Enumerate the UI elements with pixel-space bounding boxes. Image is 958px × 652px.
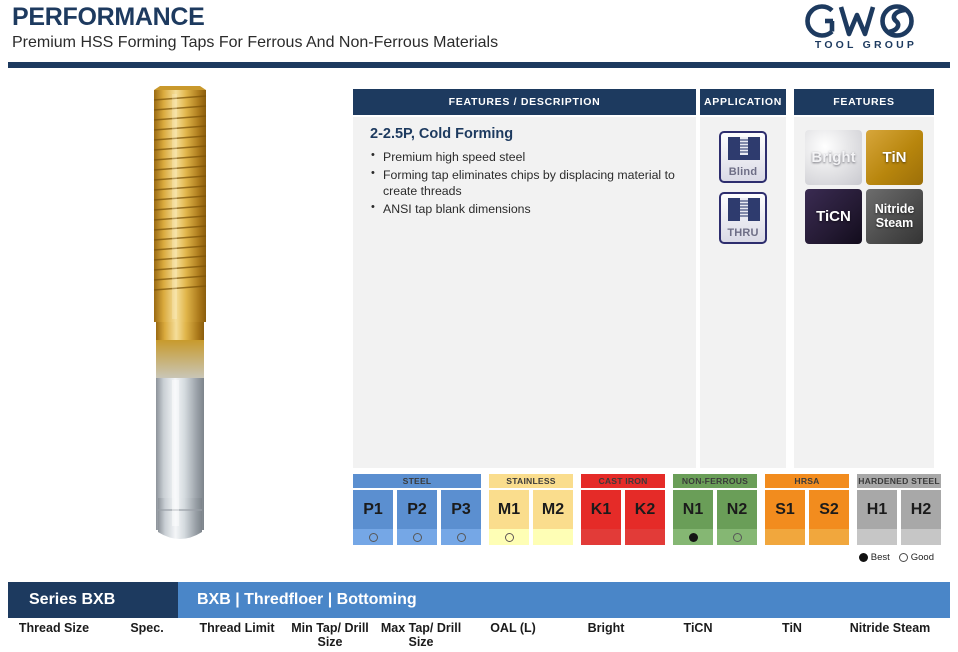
column-header-tin[interactable]: TiN <box>744 620 840 652</box>
best-dot-icon <box>689 533 698 542</box>
material-code: H2 <box>901 490 941 529</box>
coating-tile-ticn[interactable]: TiCN <box>805 189 862 244</box>
logo-tagline: TOOL GROUP <box>796 39 936 51</box>
material-code: K2 <box>625 490 665 529</box>
material-code: N1 <box>673 490 713 529</box>
material-group-non-ferrous: NON-FERROUS <box>673 474 757 488</box>
good-dot-icon <box>413 533 422 542</box>
good-dot-icon <box>369 533 378 542</box>
column-header-nitride-steam[interactable]: Nitride Steam <box>840 620 940 652</box>
material-cell-m1[interactable]: M1 <box>489 490 529 545</box>
forming-tap-illustration <box>80 84 340 562</box>
description-bullets: Premium high speed steel Forming tap eli… <box>370 150 680 220</box>
column-header-oal-l[interactable]: OAL (L) <box>466 620 560 652</box>
description-panel: 2-2.5P, Cold Forming Premium high speed … <box>353 117 696 468</box>
material-code: N2 <box>717 490 757 529</box>
features-panel: Bright TiN TiCN Nitride Steam <box>794 117 934 468</box>
material-group-hardened-steel: HARDENED STEEL <box>857 474 941 488</box>
good-dot-icon <box>733 533 742 542</box>
application-tile-label: Blind <box>721 166 765 178</box>
application-tile-blind[interactable]: Blind <box>719 131 767 183</box>
material-code: M2 <box>533 490 573 529</box>
column-header-spec[interactable]: Spec. <box>104 620 190 652</box>
material-rating <box>809 529 849 545</box>
legend-good: Good <box>899 552 934 563</box>
material-rating <box>717 529 757 545</box>
material-code: M1 <box>489 490 529 529</box>
features-description-header: FEATURES / DESCRIPTION <box>353 89 696 115</box>
material-cell-n2[interactable]: N2 <box>717 490 757 545</box>
material-cell-row: P1P2P3M1M2K1K2N1N2S1S2H1H2 <box>353 490 934 545</box>
material-cell-h1[interactable]: H1 <box>857 490 897 545</box>
application-tile-label: THRU <box>721 227 765 239</box>
good-dot-icon <box>457 533 466 542</box>
page-subtitle: Premium HSS Forming Taps For Ferrous And… <box>12 34 498 52</box>
material-cell-p3[interactable]: P3 <box>441 490 481 545</box>
material-code: S1 <box>765 490 805 529</box>
material-rating <box>857 529 897 545</box>
material-rating <box>533 529 573 545</box>
catalog-page: PERFORMANCE Premium HSS Forming Taps For… <box>0 0 958 652</box>
column-header-ticn[interactable]: TiCN <box>652 620 744 652</box>
material-cell-k1[interactable]: K1 <box>581 490 621 545</box>
bullet-item: Forming tap eliminates chips by displaci… <box>370 168 680 199</box>
good-dot-icon <box>899 553 908 562</box>
material-cell-h2[interactable]: H2 <box>901 490 941 545</box>
material-group-cast-iron: CAST IRON <box>581 474 665 488</box>
material-cell-n1[interactable]: N1 <box>673 490 713 545</box>
material-code: P3 <box>441 490 481 529</box>
column-header-max-tap-drill-size[interactable]: Max Tap/ Drill Size <box>376 620 466 652</box>
material-cell-p2[interactable]: P2 <box>397 490 437 545</box>
product-image <box>80 84 340 562</box>
legend-best-label: Best <box>871 552 890 563</box>
page-header: PERFORMANCE Premium HSS Forming Taps For… <box>0 0 958 68</box>
material-cell-k2[interactable]: K2 <box>625 490 665 545</box>
column-header-min-tap-drill-size[interactable]: Min Tap/ Drill Size <box>284 620 376 652</box>
material-rating <box>581 529 621 545</box>
material-rating <box>765 529 805 545</box>
coating-tile-bright[interactable]: Bright <box>805 130 862 185</box>
material-rating <box>901 529 941 545</box>
application-panel: Blind THRU <box>700 117 786 468</box>
material-code: P2 <box>397 490 437 529</box>
column-header-thread-limit[interactable]: Thread Limit <box>190 620 284 652</box>
column-header-thread-size[interactable]: Thread Size <box>2 620 106 652</box>
material-code: H1 <box>857 490 897 529</box>
spec-table-header: Thread SizeSpec.Thread LimitMin Tap/ Dri… <box>0 620 958 652</box>
legend-best: Best <box>859 552 890 563</box>
material-rating <box>353 529 393 545</box>
series-name: BXB | Thredfloer | Bottoming <box>178 582 950 618</box>
coating-tile-nitride[interactable]: Nitride Steam <box>866 189 923 244</box>
material-rating <box>489 529 529 545</box>
blind-hole-icon <box>726 136 762 162</box>
rating-legend: Best Good <box>838 550 934 564</box>
page-title: PERFORMANCE <box>12 3 205 32</box>
header-divider <box>8 62 950 68</box>
series-tag: Series BXB <box>8 582 178 618</box>
material-cell-m2[interactable]: M2 <box>533 490 573 545</box>
coating-tile-tin[interactable]: TiN <box>866 130 923 185</box>
material-cell-p1[interactable]: P1 <box>353 490 393 545</box>
material-group-steel: STEEL <box>353 474 481 488</box>
application-tile-thru[interactable]: THRU <box>719 192 767 244</box>
series-banner: Series BXB BXB | Thredfloer | Bottoming <box>8 582 950 618</box>
material-group-stainless: STAINLESS <box>489 474 573 488</box>
bullet-item: ANSI tap blank dimensions <box>370 202 680 217</box>
material-code: P1 <box>353 490 393 529</box>
gwo-logo: TOOL GROUP <box>796 2 936 58</box>
material-rating <box>673 529 713 545</box>
legend-good-label: Good <box>911 552 934 563</box>
material-cell-s2[interactable]: S2 <box>809 490 849 545</box>
best-dot-icon <box>859 553 868 562</box>
features-header: FEATURES <box>794 89 934 115</box>
material-cell-s1[interactable]: S1 <box>765 490 805 545</box>
material-code: S2 <box>809 490 849 529</box>
material-group-bar: STEELSTAINLESSCAST IRONNON-FERROUSHRSAHA… <box>353 474 934 488</box>
thru-hole-icon <box>726 197 762 223</box>
column-header-bright[interactable]: Bright <box>560 620 652 652</box>
material-group-hrsa: HRSA <box>765 474 849 488</box>
material-code: K1 <box>581 490 621 529</box>
good-dot-icon <box>505 533 514 542</box>
material-rating <box>397 529 437 545</box>
application-header: APPLICATION <box>700 89 786 115</box>
material-rating <box>441 529 481 545</box>
bullet-item: Premium high speed steel <box>370 150 680 165</box>
description-title: 2-2.5P, Cold Forming <box>370 126 513 142</box>
material-rating <box>625 529 665 545</box>
gwo-logo-mark <box>796 2 936 40</box>
